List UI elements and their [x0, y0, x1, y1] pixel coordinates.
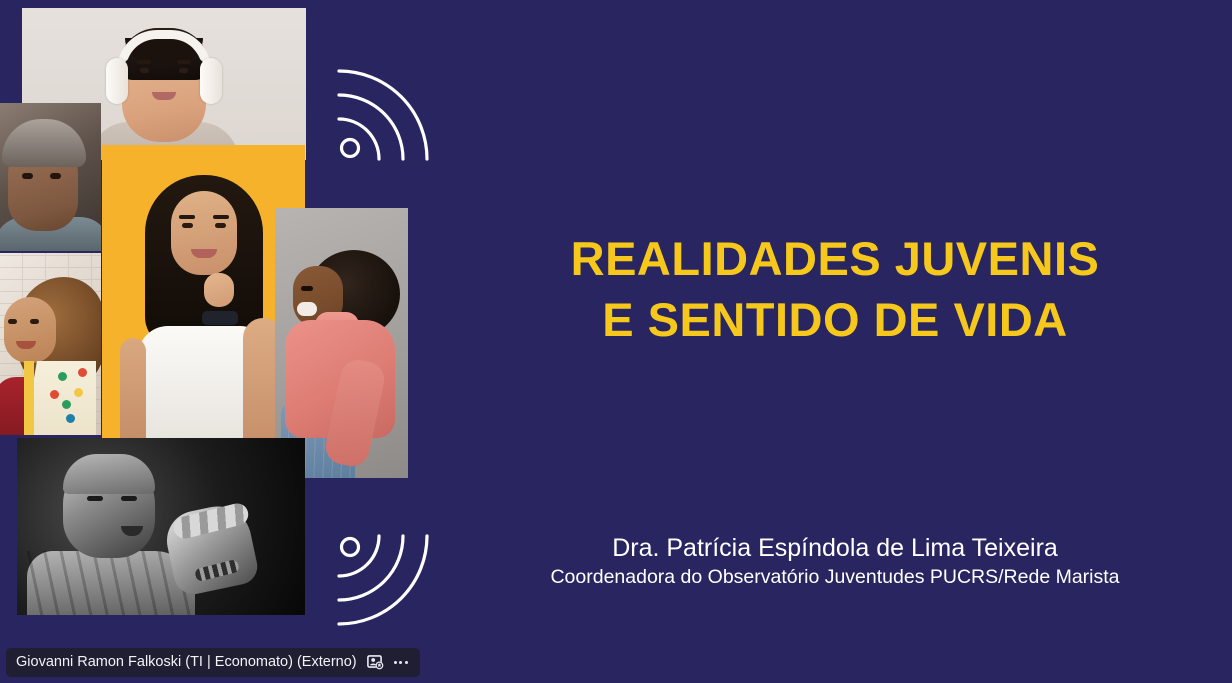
photo-curly-hair-woman	[0, 253, 101, 435]
participant-name-bar[interactable]: Giovanni Ramon Falkoski (TI | Economato)…	[6, 648, 420, 677]
wifi-signal-icon	[333, 530, 433, 640]
meeting-stage: REALIDADES JUVENIS E SENTIDO DE VIDA Dra…	[0, 0, 1232, 683]
signal-arcs-bottom	[333, 530, 433, 640]
pin-participant-icon[interactable]	[367, 655, 384, 670]
speaker-role: Coordenadora do Observatório Juventudes …	[480, 564, 1190, 590]
title-line-1: REALIDADES JUVENIS	[480, 228, 1190, 289]
title-line-2: E SENTIDO DE VIDA	[480, 289, 1190, 350]
participant-name-label: Giovanni Ramon Falkoski (TI | Economato)…	[16, 655, 357, 670]
speaker-name: Dra. Patrícia Espíndola de Lima Teixeira	[480, 533, 1190, 564]
photo-woman-portrait	[0, 103, 101, 251]
slide-title: REALIDADES JUVENIS E SENTIDO DE VIDA	[480, 228, 1190, 350]
speaker-credit: Dra. Patrícia Espíndola de Lima Teixeira…	[480, 533, 1190, 590]
more-options-icon[interactable]	[394, 661, 409, 664]
photo-praying-man	[17, 438, 305, 615]
signal-arcs-top	[333, 55, 433, 165]
wifi-signal-icon	[333, 55, 433, 165]
